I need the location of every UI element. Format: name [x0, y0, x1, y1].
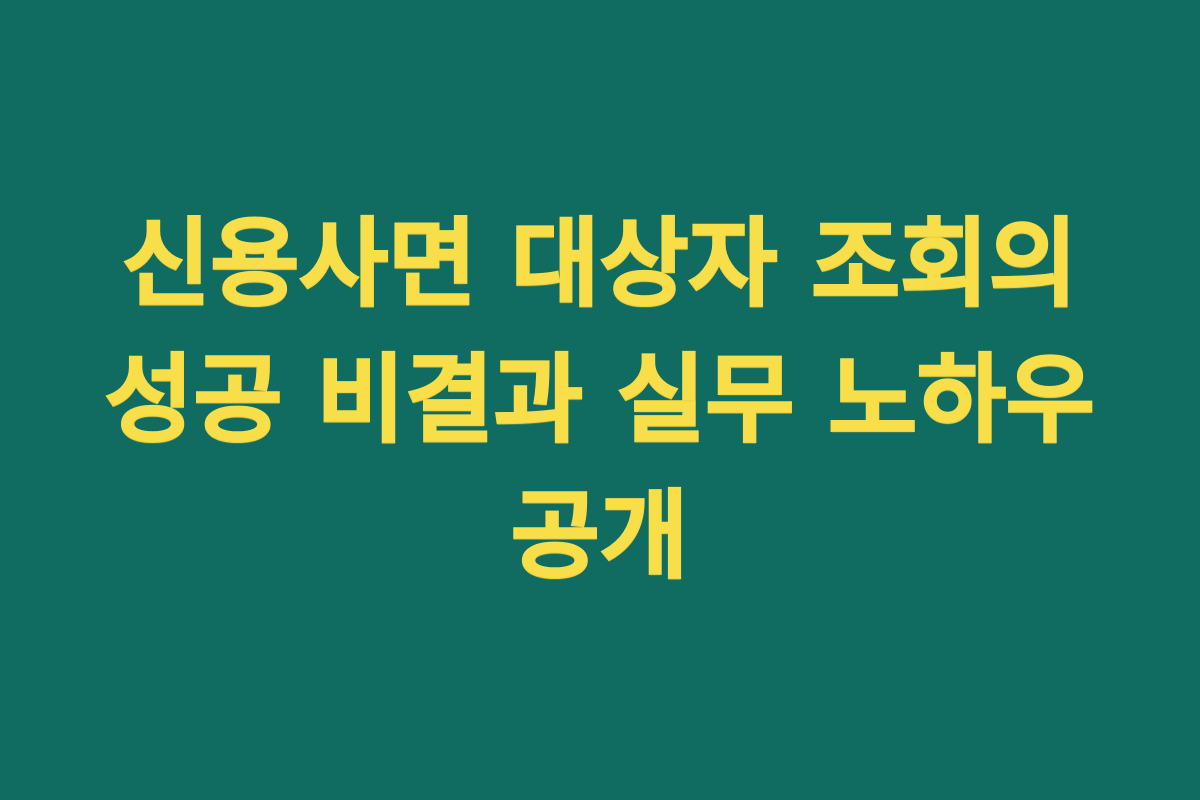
page-title: 신용사면 대상자 조회의 성공 비결과 실무 노하우 공개 [0, 196, 1200, 605]
headline-line-2: 성공 비결과 실무 노하우 [40, 332, 1160, 468]
headline-line-1: 신용사면 대상자 조회의 [40, 196, 1160, 332]
banner-canvas: 신용사면 대상자 조회의 성공 비결과 실무 노하우 공개 [0, 0, 1200, 800]
headline-line-3: 공개 [40, 468, 1160, 604]
